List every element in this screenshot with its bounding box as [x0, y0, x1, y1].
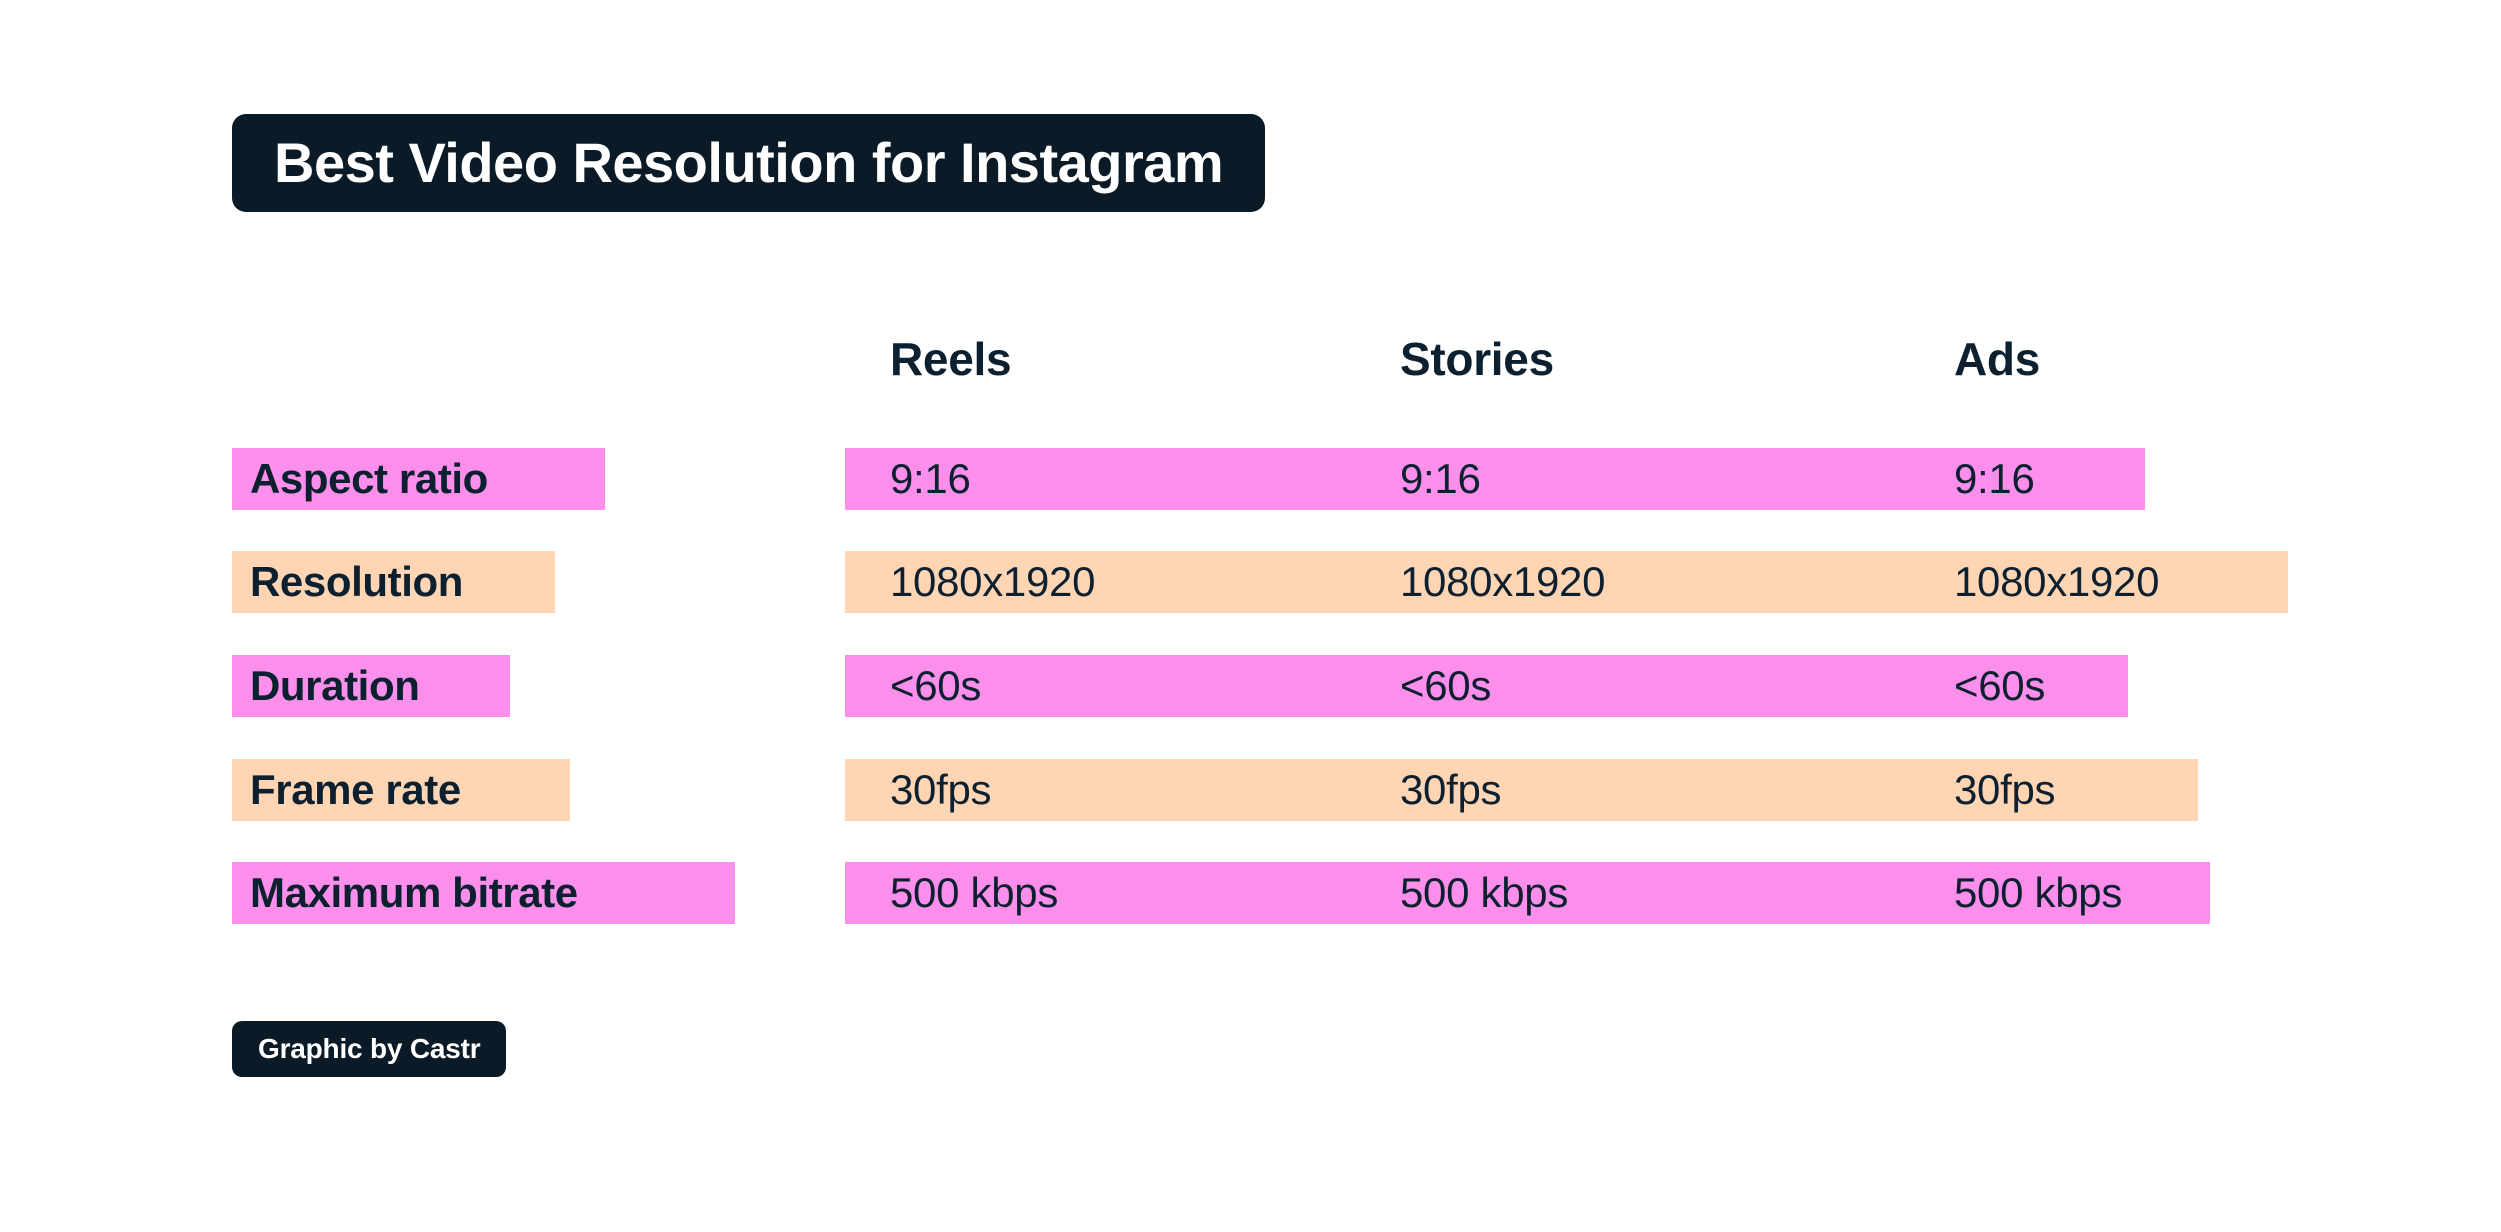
row-value-bar-resolution: 1080x19201080x19201080x1920 — [845, 551, 2288, 613]
table-row: Frame rate30fps30fps30fps — [0, 759, 2501, 821]
cell-aspect-ratio-ads: 9:16 — [1954, 448, 2035, 510]
cell-value: 9:16 — [890, 458, 971, 500]
column-header-stories: Stories — [1400, 336, 1554, 382]
cell-aspect-ratio-stories: 9:16 — [1400, 448, 1481, 510]
cell-value: 9:16 — [1954, 458, 2035, 500]
infographic-root: Best Video Resolution for Instagram Reel… — [0, 0, 2501, 1232]
cell-value: 30fps — [1954, 769, 2055, 811]
cell-value: 500 kbps — [890, 872, 1058, 914]
cell-duration-reels: <60s — [890, 655, 981, 717]
cell-value: <60s — [890, 665, 981, 707]
row-label-maximum-bitrate: Maximum bitrate — [232, 862, 735, 924]
credit-badge: Graphic by Castr — [232, 1021, 506, 1077]
cell-value: 1080x1920 — [1400, 561, 1605, 603]
credit-label: Graphic by Castr — [258, 1035, 480, 1063]
row-label-text: Aspect ratio — [250, 458, 488, 500]
cell-value: 1080x1920 — [890, 561, 1095, 603]
table-row: Aspect ratio9:169:169:16 — [0, 448, 2501, 510]
cell-maximum-bitrate-ads: 500 kbps — [1954, 862, 2122, 924]
page-title: Best Video Resolution for Instagram — [274, 135, 1223, 191]
row-label-text: Maximum bitrate — [250, 872, 578, 914]
table-row: Resolution1080x19201080x19201080x1920 — [0, 551, 2501, 613]
cell-maximum-bitrate-reels: 500 kbps — [890, 862, 1058, 924]
row-value-bar-frame-rate: 30fps30fps30fps — [845, 759, 2198, 821]
cell-resolution-reels: 1080x1920 — [890, 551, 1095, 613]
row-value-bar-maximum-bitrate: 500 kbps500 kbps500 kbps — [845, 862, 2210, 924]
row-label-duration: Duration — [232, 655, 510, 717]
page-title-badge: Best Video Resolution for Instagram — [232, 114, 1265, 212]
row-label-text: Duration — [250, 665, 419, 707]
column-header-ads: Ads — [1954, 336, 2040, 382]
cell-frame-rate-ads: 30fps — [1954, 759, 2055, 821]
cell-value: <60s — [1400, 665, 1491, 707]
cell-value: 500 kbps — [1400, 872, 1568, 914]
cell-value: <60s — [1954, 665, 2045, 707]
cell-frame-rate-stories: 30fps — [1400, 759, 1501, 821]
table-row: Duration<60s<60s<60s — [0, 655, 2501, 717]
cell-value: 9:16 — [1400, 458, 1481, 500]
cell-value: 1080x1920 — [1954, 561, 2159, 603]
cell-aspect-ratio-reels: 9:16 — [890, 448, 971, 510]
cell-duration-ads: <60s — [1954, 655, 2045, 717]
cell-frame-rate-reels: 30fps — [890, 759, 991, 821]
row-label-text: Resolution — [250, 561, 463, 603]
row-value-bar-duration: <60s<60s<60s — [845, 655, 2128, 717]
row-label-resolution: Resolution — [232, 551, 555, 613]
column-header-reels: Reels — [890, 336, 1011, 382]
cell-duration-stories: <60s — [1400, 655, 1491, 717]
row-label-frame-rate: Frame rate — [232, 759, 570, 821]
cell-value: 30fps — [1400, 769, 1501, 811]
row-label-text: Frame rate — [250, 769, 461, 811]
cell-value: 500 kbps — [1954, 872, 2122, 914]
cell-maximum-bitrate-stories: 500 kbps — [1400, 862, 1568, 924]
cell-resolution-ads: 1080x1920 — [1954, 551, 2159, 613]
row-label-aspect-ratio: Aspect ratio — [232, 448, 605, 510]
cell-resolution-stories: 1080x1920 — [1400, 551, 1605, 613]
cell-value: 30fps — [890, 769, 991, 811]
table-row: Maximum bitrate500 kbps500 kbps500 kbps — [0, 862, 2501, 924]
row-value-bar-aspect-ratio: 9:169:169:16 — [845, 448, 2145, 510]
